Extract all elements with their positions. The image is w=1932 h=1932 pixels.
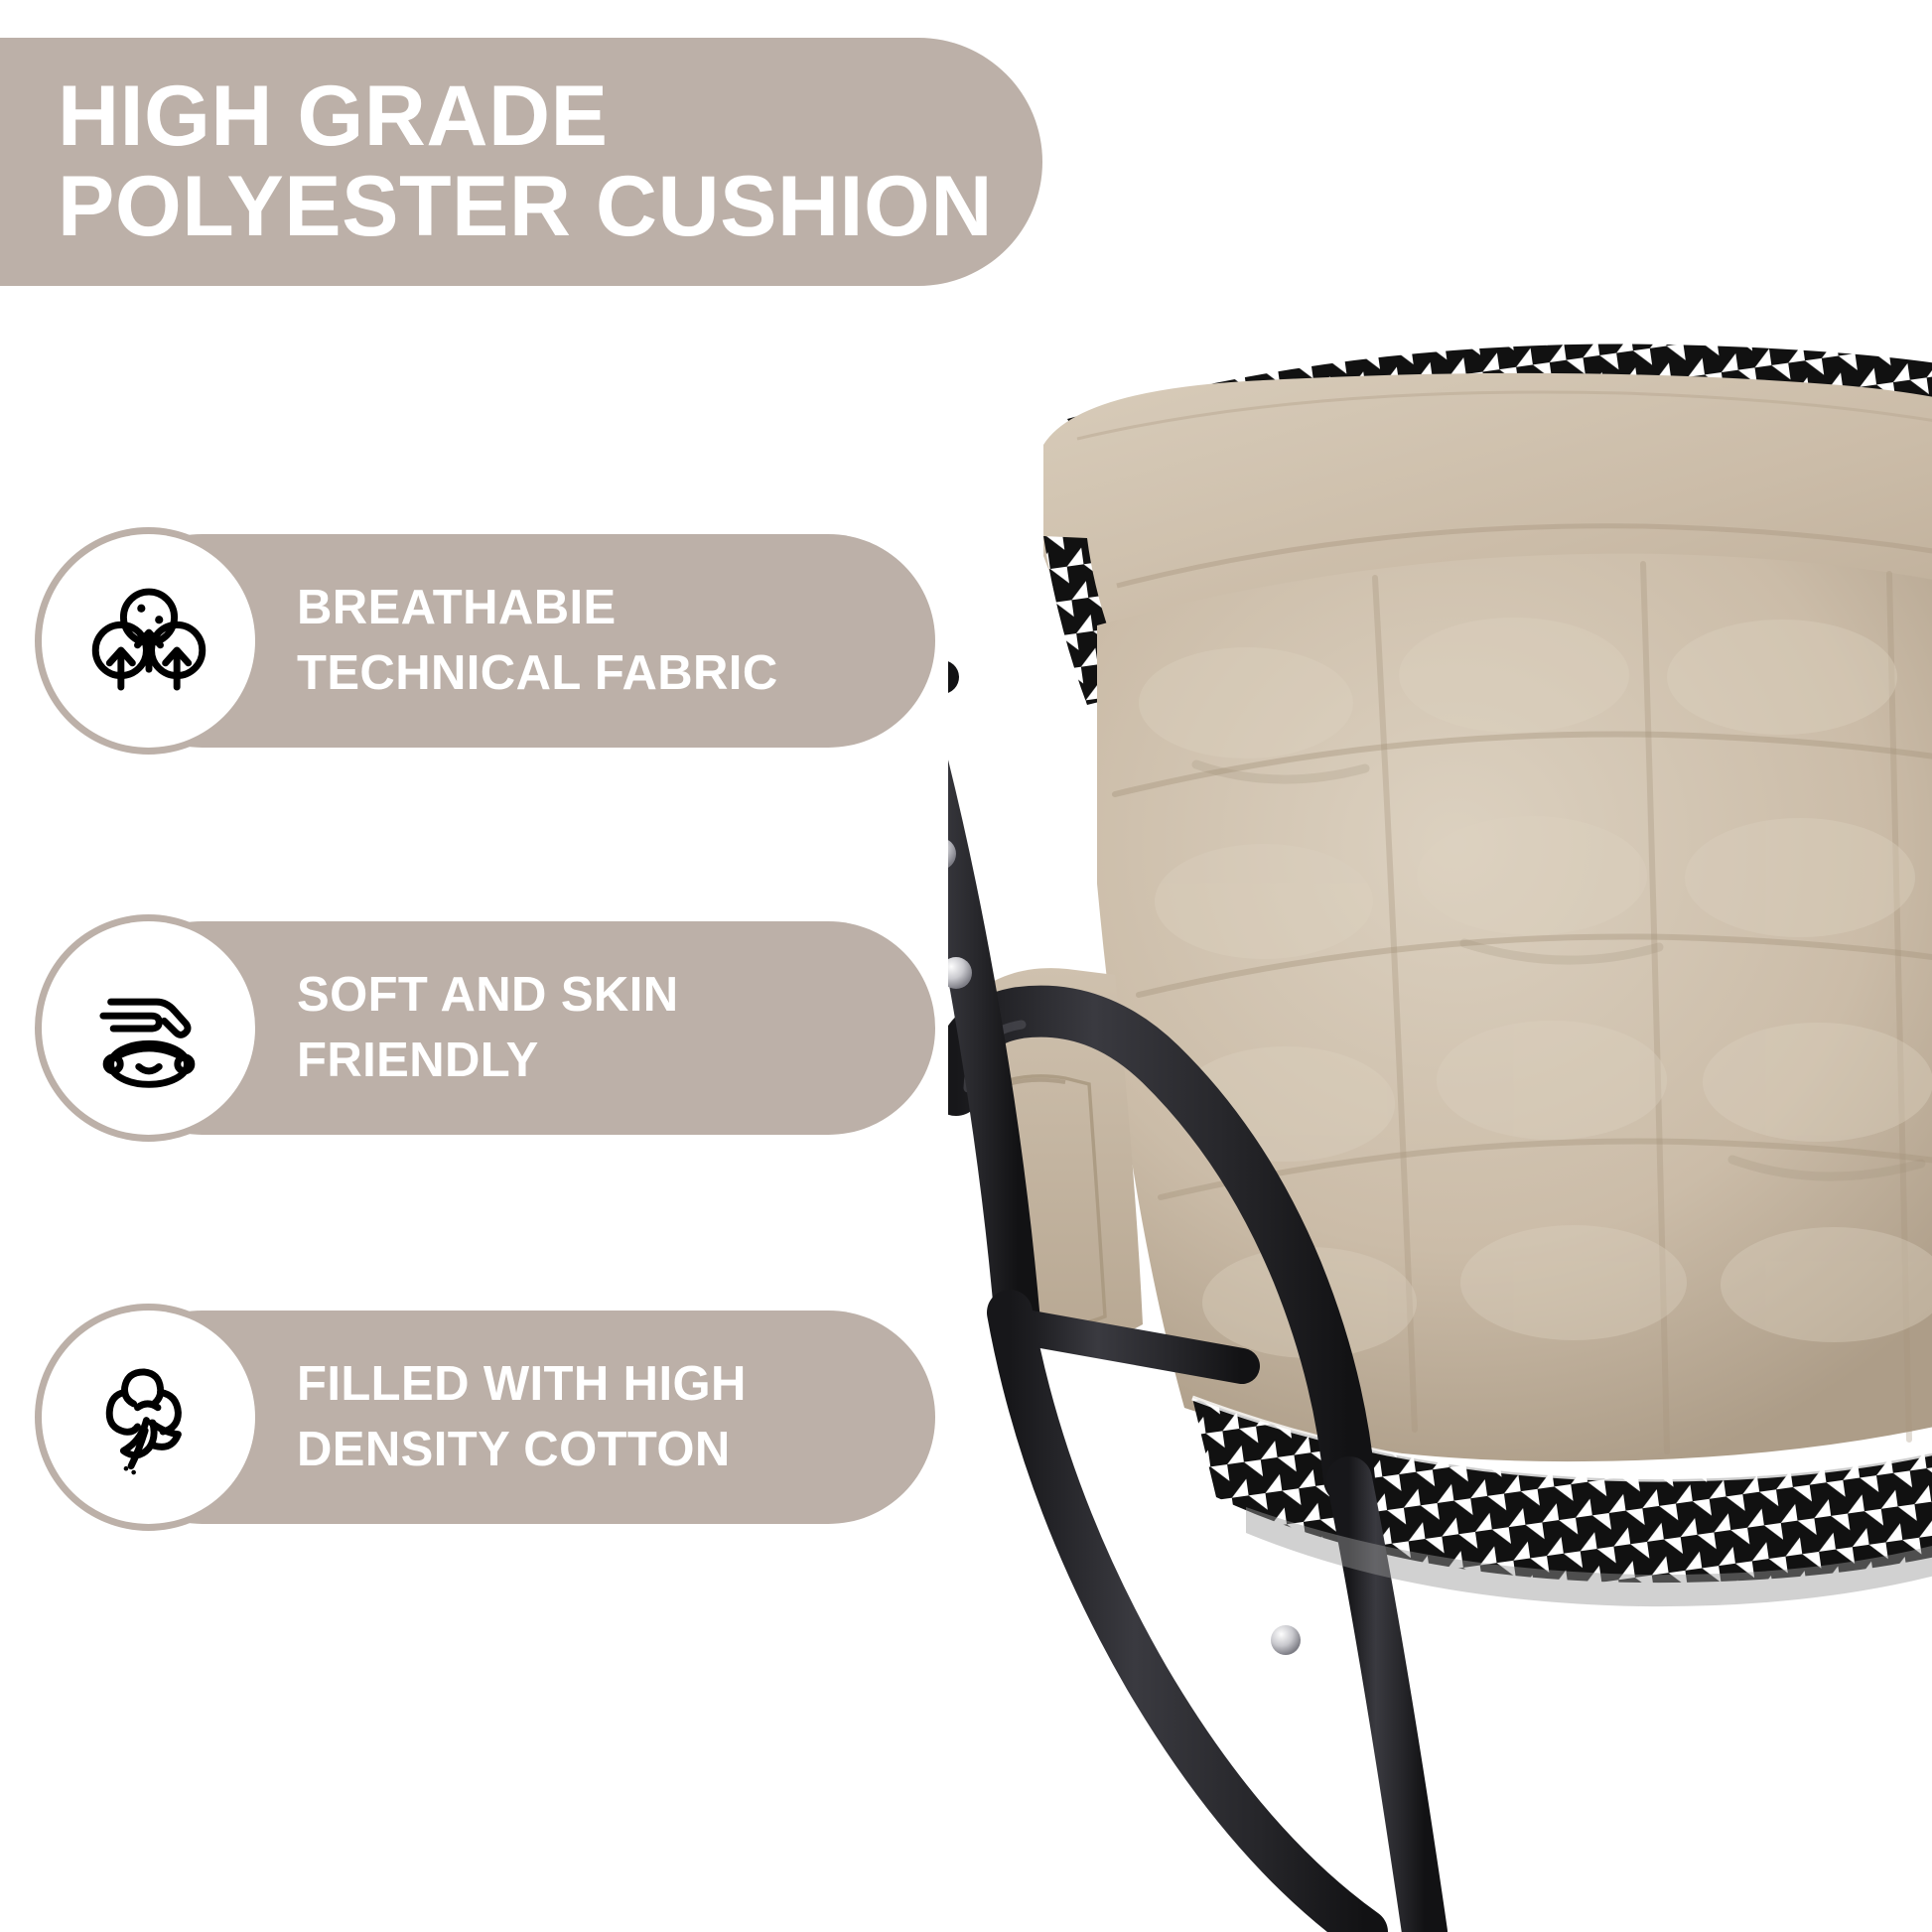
infographic-canvas: HIGH GRADE POLYESTER CUSHION BREATHABIE … <box>0 0 1932 1932</box>
breathable-fabric-icon <box>42 534 255 748</box>
hand-over-baby-face-icon <box>42 921 255 1135</box>
feature-label: FILLED WITH HIGH DENSITY COTTON <box>297 1352 747 1481</box>
page-title: HIGH GRADE POLYESTER CUSHION <box>58 71 993 252</box>
feature-label: BREATHABIE TECHNICAL FABRIC <box>297 576 778 705</box>
product-image-rocking-chair <box>948 328 1932 1932</box>
feature-label: SOFT AND SKIN FRIENDLY <box>297 963 679 1092</box>
quilted-seat-cushion <box>1097 554 1932 1461</box>
feature-item-high-density-cotton: FILLED WITH HIGH DENSITY COTTON <box>42 1311 935 1524</box>
feature-item-breathable: BREATHABIE TECHNICAL FABRIC <box>42 534 935 748</box>
cotton-boll-icon <box>42 1311 255 1524</box>
feature-item-soft-skin: SOFT AND SKIN FRIENDLY <box>42 921 935 1135</box>
header-banner: HIGH GRADE POLYESTER CUSHION <box>0 38 1042 286</box>
